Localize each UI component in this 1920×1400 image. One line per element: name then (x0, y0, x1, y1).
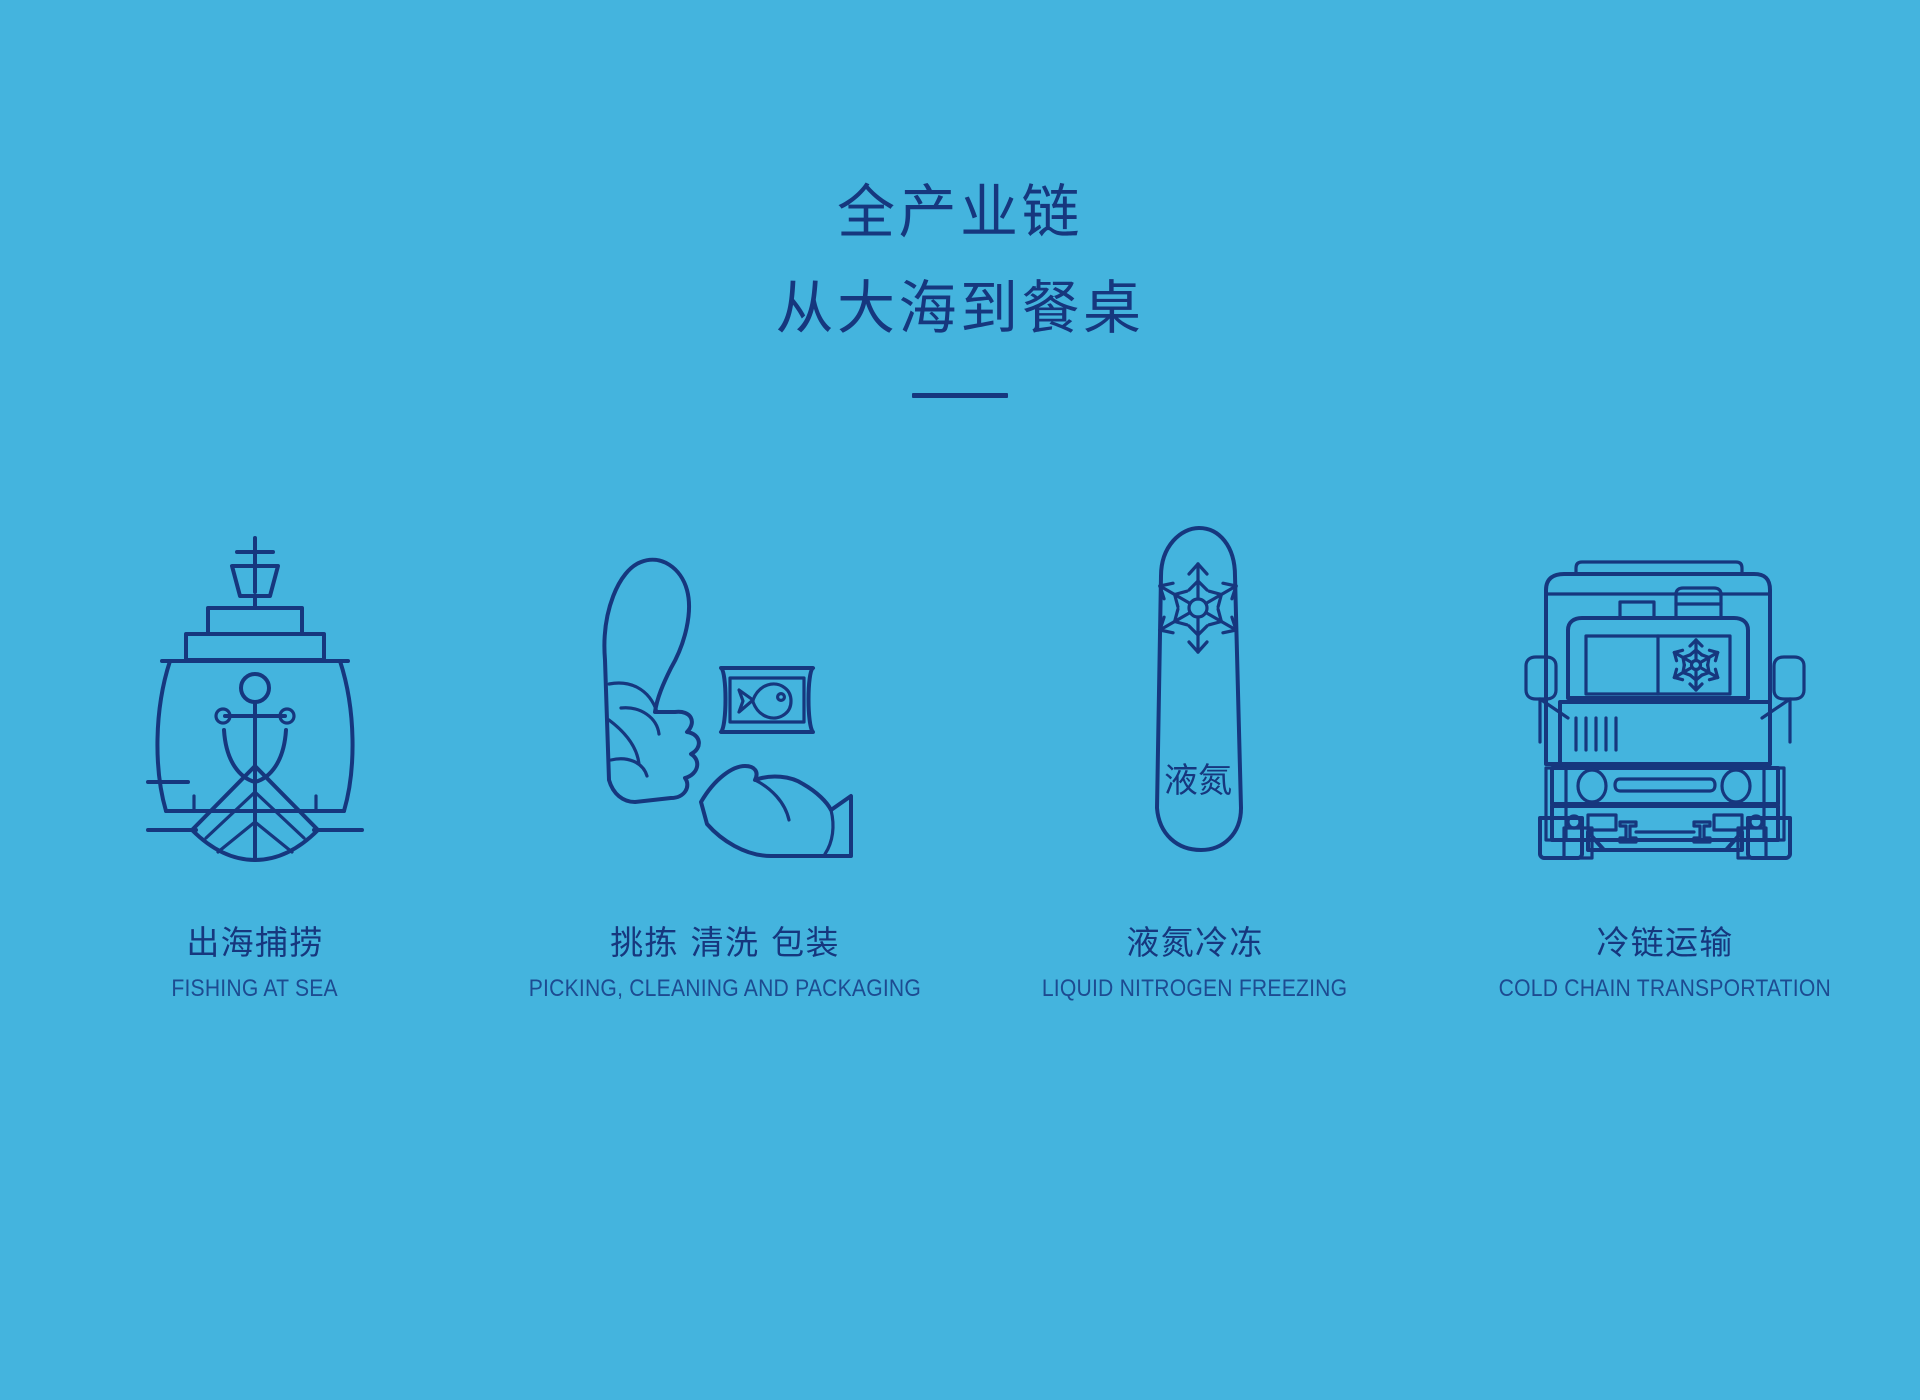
process-steps: 出海捕捞 FISHING AT SEA (0, 520, 1920, 1004)
step-label-cn: 出海捕捞 (160, 922, 349, 963)
step-label-en: LIQUID NITROGEN FREEZING (1042, 975, 1347, 1004)
step-label-en: COLD CHAIN TRANSPORTATION (1499, 975, 1831, 1004)
page-title: 全产业链 从大海到餐桌 (0, 175, 1920, 398)
step-labels: 冷链运输 COLD CHAIN TRANSPORTATION (1476, 922, 1854, 1004)
step-labels: 液氮冷冻 LIQUID NITROGEN FREEZING (1021, 922, 1368, 1004)
fishing-boat-anchor-icon (140, 520, 370, 860)
step-cold-chain-transportation[interactable]: 冷链运输 COLD CHAIN TRANSPORTATION (1430, 520, 1900, 1004)
title-line-primary: 全产业链 (0, 175, 1920, 249)
step-label-en: PICKING, CLEANING AND PACKAGING (529, 975, 921, 1004)
step-fishing-at-sea[interactable]: 出海捕捞 FISHING AT SEA (20, 520, 490, 1004)
refrigerated-truck-icon (1520, 520, 1810, 860)
title-line-secondary: 从大海到餐桌 (0, 271, 1920, 345)
step-picking-cleaning-packaging[interactable]: 挑拣 清洗 包装 PICKING, CLEANING AND PACKAGING (490, 520, 960, 1004)
step-label-cn: 挑拣 清洗 包装 (502, 922, 948, 963)
step-liquid-nitrogen-freezing[interactable]: 液氮 液氮冷冻 LIQUID NITROGEN FREEZING (960, 520, 1430, 1004)
nitrogen-tank-snowflake-icon: 液氮 (1125, 520, 1265, 860)
step-label-cn: 液氮冷冻 (1021, 922, 1368, 963)
title-divider (912, 393, 1008, 398)
step-labels: 出海捕捞 FISHING AT SEA (160, 922, 349, 1004)
hands-packaged-fish-icon (575, 520, 875, 860)
step-label-en: FISHING AT SEA (172, 975, 338, 1004)
infographic-canvas: 全产业链 从大海到餐桌 (0, 0, 1920, 1400)
step-labels: 挑拣 清洗 包装 PICKING, CLEANING AND PACKAGING (502, 922, 948, 1004)
step-label-cn: 冷链运输 (1476, 922, 1854, 963)
tank-caption: 液氮 (1164, 761, 1232, 801)
